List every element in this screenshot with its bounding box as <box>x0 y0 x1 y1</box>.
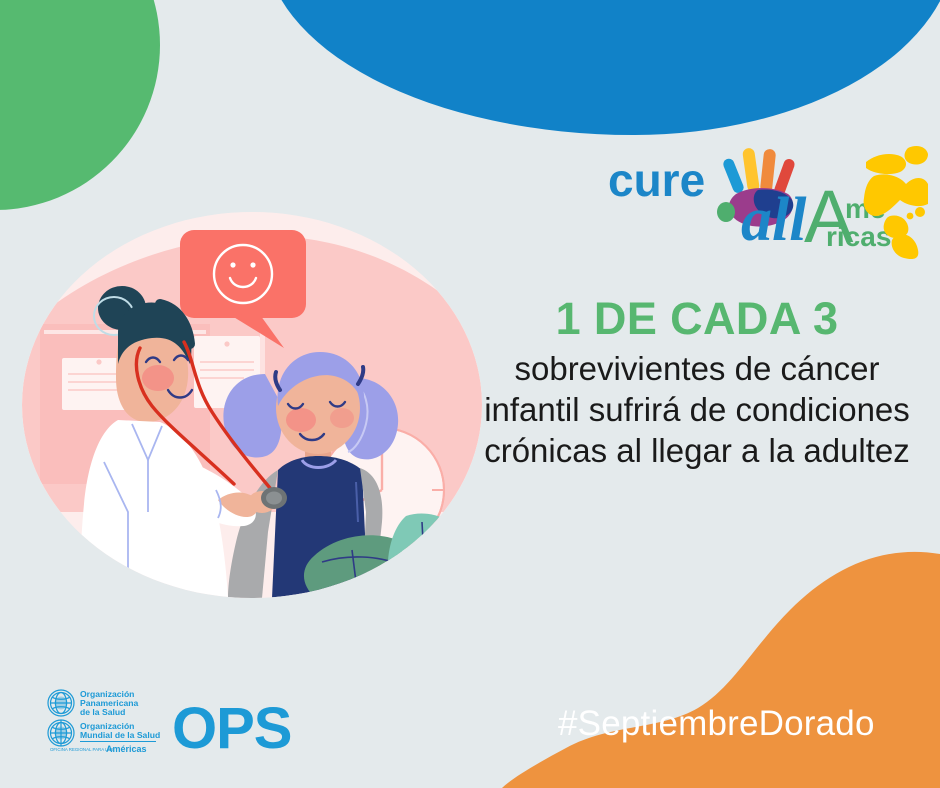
who-line-2: Mundial de la Salud <box>80 730 160 740</box>
body-text: sobrevivientes de cáncer infantil sufrir… <box>466 349 928 472</box>
blue-blob-decoration <box>265 0 940 135</box>
message-block: 1 DE CADA 3 sobrevivientes de cáncer inf… <box>466 296 928 472</box>
headline-text: 1 DE CADA 3 <box>466 296 928 341</box>
logo-all-text: all <box>741 186 807 254</box>
orange-blob-decoration <box>410 548 940 788</box>
cureall-americas-logo: cure all A me ricas <box>608 142 928 260</box>
illustration-circle <box>22 212 482 598</box>
paho-line-3: de la Salud <box>80 707 125 717</box>
region-prefix: OFICINA REGIONAL PARA LAS <box>50 747 114 752</box>
hashtag-text: #SeptiembreDorado <box>558 704 875 744</box>
green-blob-decoration <box>0 0 160 210</box>
poster-canvas: cure all A me ricas <box>0 0 940 788</box>
logo-ricas-text: ricas <box>826 221 891 252</box>
region-name: Américas <box>106 744 147 754</box>
logo-cure-text: cure <box>608 154 705 206</box>
ops-paho-logo: Organización Panamericana de la Salud Or… <box>44 688 354 762</box>
ops-acronym: OPS <box>172 696 292 761</box>
